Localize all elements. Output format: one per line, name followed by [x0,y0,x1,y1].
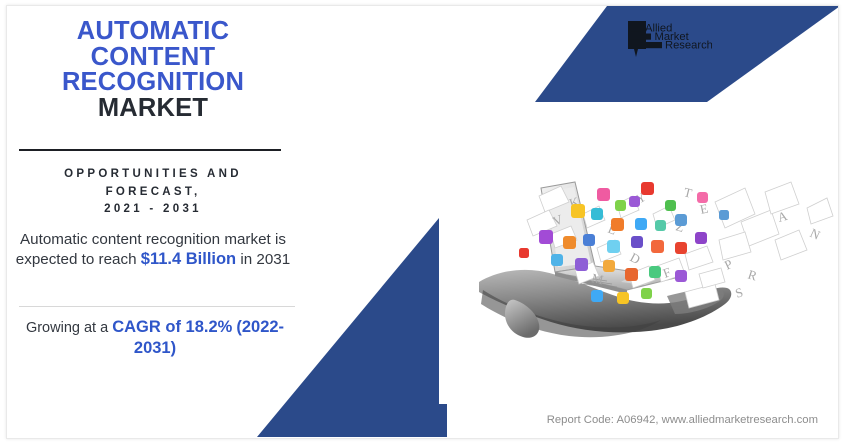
title-divider [19,149,281,151]
svg-text:D: D [628,249,643,267]
svg-text:T: T [682,184,693,200]
subtitle-line-3: 2021 - 2031 [104,203,202,215]
title-line-4: MARKET [7,96,299,122]
infographic-card: Allied Market Research [6,5,839,439]
cagr-statement: Growing at a CAGR of 18.2% (2022-2031) [11,317,299,359]
logo-line-research: Research [665,40,712,52]
cagr-lead: Growing at a [26,320,108,336]
hero-photo: K L Y Z E D F M P R A N V T S [479,174,839,406]
subtitle-line-1: OPPORTUNITIES AND [64,168,242,180]
title-line-1: AUTOMATIC [7,19,299,45]
svg-text:A: A [776,208,790,225]
title-line-3: RECOGNITION [7,70,299,96]
title-line-2: CONTENT [7,45,299,71]
svg-text:N: N [808,225,823,243]
cagr-value: CAGR of 18.2% [112,318,232,336]
svg-text:R: R [746,267,759,284]
allied-market-research-logo-icon: Allied Market Research [626,19,712,67]
page-title: AUTOMATIC CONTENT RECOGNITION MARKET [7,19,299,121]
left-text-column: AUTOMATIC CONTENT RECOGNITION MARKET OPP… [7,6,299,439]
brand-logo[interactable]: Allied Market Research [626,19,712,67]
market-value-statement: Automatic content recognition market is … [11,230,295,269]
svg-text:S: S [733,284,745,301]
value-statement-trail: in 2031 [240,251,290,268]
cagr-divider [19,306,295,307]
hand-holding-laptop-illustration: K L Y Z E D F M P R A N V T S [479,174,839,406]
subtitle: OPPORTUNITIES AND FORECAST, 2021 - 2031 [13,166,293,219]
svg-text:P: P [722,256,735,273]
report-footer: Report Code: A06942, www.alliedmarketres… [7,414,836,426]
market-value-amount: $11.4 Billion [141,250,236,268]
subtitle-line-2: FORECAST, [106,186,201,198]
svg-text:E: E [699,201,710,217]
